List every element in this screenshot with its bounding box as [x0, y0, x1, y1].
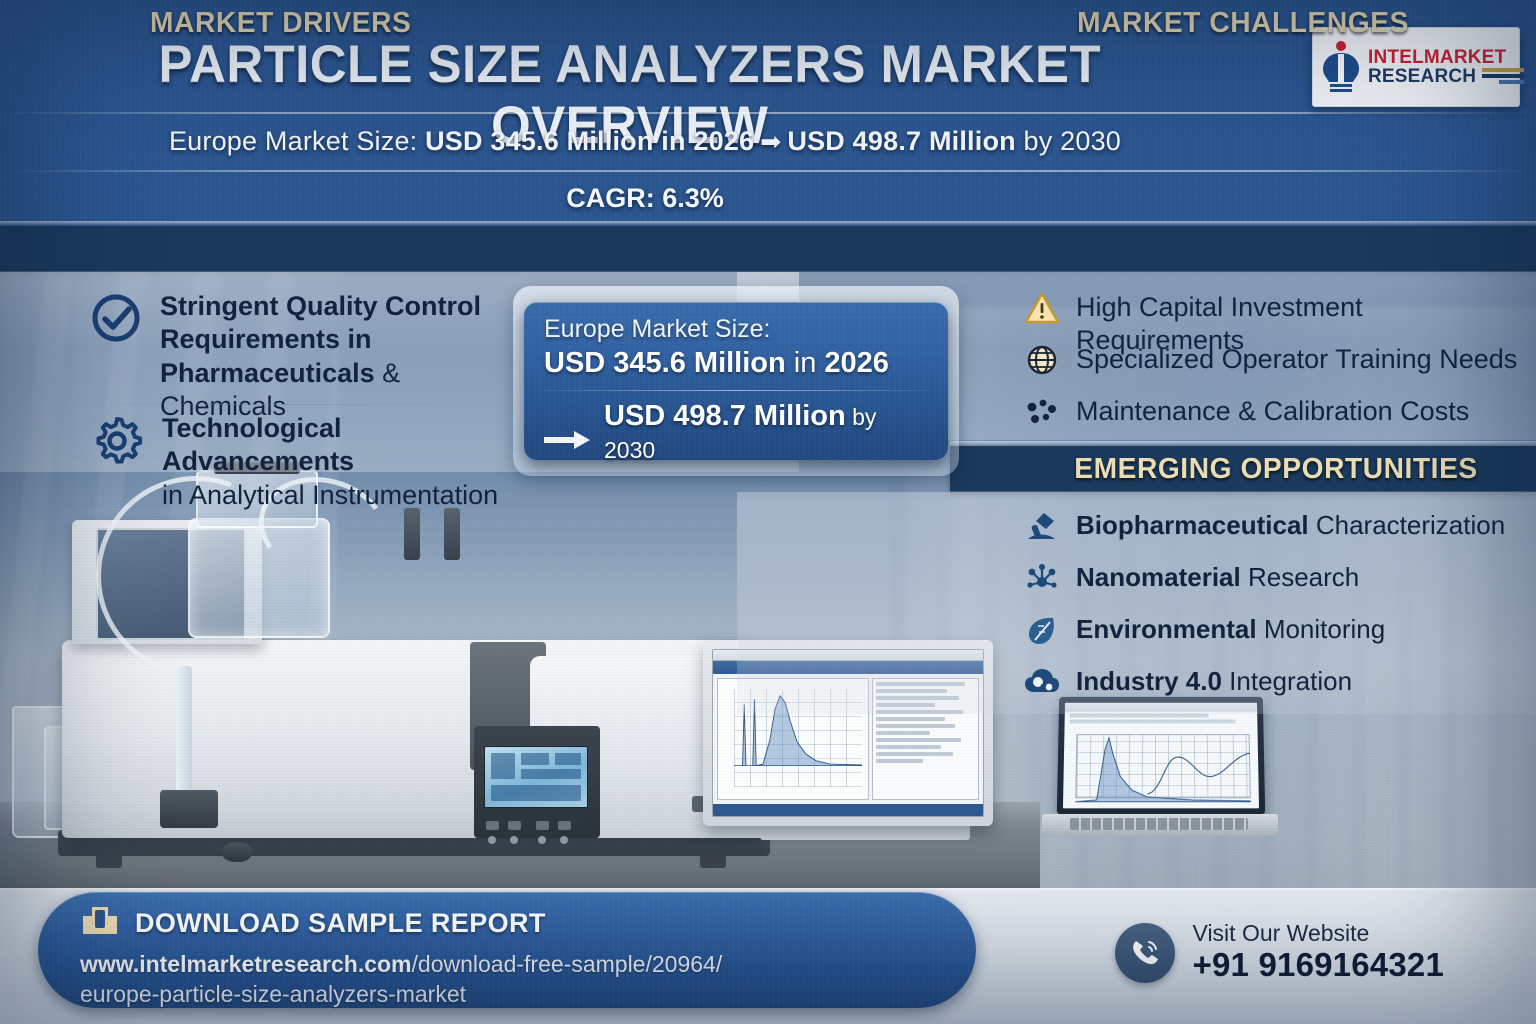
control-led-4	[560, 836, 568, 844]
opportunity-4-rest: Integration	[1222, 666, 1352, 696]
driver-1-line-1: Stringent Quality Control	[160, 291, 481, 321]
driver-2-line-1: Technological Advancements	[162, 413, 354, 476]
phone-ring-icon	[1115, 923, 1175, 983]
challenges-heading: MARKET CHALLENGES	[1077, 0, 1409, 46]
opportunity-item-3-text: Environmental Monitoring	[1076, 613, 1385, 645]
drivers-divider	[60, 404, 510, 405]
challenge-item-2: Specialized Operator Training Needs	[1024, 343, 1517, 377]
cagr-value: CAGR: 6.3%	[0, 183, 1290, 214]
visit-website-label: Visit Our Website	[1193, 921, 1444, 947]
computer-mouse[interactable]	[222, 842, 252, 862]
opportunity-item-2: Nanomaterial Research	[1024, 561, 1359, 595]
logo-line-1: INTELMARKET	[1368, 48, 1524, 67]
opportunity-1-rest: Characterization	[1309, 510, 1506, 540]
opportunity-3-rest: Monitoring	[1257, 614, 1386, 644]
subline-suffix: by 2030	[1016, 126, 1121, 156]
control-led-1	[488, 836, 496, 844]
header-rule-top	[0, 112, 1536, 114]
control-led-2	[510, 836, 518, 844]
logo-wordmark: INTELMARKET RESEARCH	[1368, 48, 1524, 86]
logo-line-2: RESEARCH	[1368, 67, 1524, 86]
subline-prefix: Europe Market Size:	[169, 126, 425, 156]
callout-value-2026-in: in	[786, 347, 825, 379]
control-button-3[interactable]	[536, 821, 549, 830]
challenge-item-2-text: Specialized Operator Training Needs	[1076, 343, 1517, 376]
laptop	[1042, 696, 1278, 846]
driver-1-line-3-bold: Pharmaceuticals	[160, 358, 375, 388]
instrument-port-2	[444, 508, 460, 560]
header-subline: Europe Market Size: USD 345.6 Million in…	[0, 126, 1290, 157]
opportunities-heading: EMERGING OPPORTUNITIES	[1074, 446, 1478, 492]
download-url-domain: www.intelmarketresearch.com	[80, 951, 412, 977]
instrument-foot-right	[700, 854, 726, 868]
callout-value-2026-amount: USD 345.6 Million	[544, 347, 786, 379]
opportunity-item-1-text: Biopharmaceutical Characterization	[1076, 509, 1505, 541]
particles-icon	[1024, 395, 1060, 429]
opportunity-item-3: Environmental Monitoring	[1024, 613, 1385, 647]
callout-value-2030-amount: USD 498.7 Million	[604, 400, 846, 432]
logo-line-2-text: RESEARCH	[1368, 67, 1476, 86]
laptop-plot-curve	[1075, 734, 1251, 802]
laptop-screen	[1063, 703, 1259, 809]
instrument-foot-left	[96, 854, 122, 868]
opportunity-3-bold: Environmental	[1076, 614, 1257, 644]
market-size-callout: Europe Market Size: USD 345.6 Million in…	[524, 302, 948, 460]
laptop-lid	[1057, 697, 1265, 815]
gear-icon	[88, 412, 146, 470]
download-box-icon	[80, 904, 120, 943]
arrow-right-icon: ➡	[754, 127, 787, 157]
footer-bar: DOWNLOAD SAMPLE REPORT www.intelmarketre…	[0, 888, 1536, 1024]
laptop-keyboard[interactable]	[1070, 818, 1248, 830]
control-button-4[interactable]	[558, 821, 571, 830]
driver-item-2: Technological Advancements in Analytical…	[88, 412, 518, 512]
arrow-right-icon	[544, 424, 590, 442]
subline-value-2026: USD 345.6 Million in 2026	[425, 126, 754, 156]
driver-2-line-2: in Analytical Instrumentation	[162, 480, 498, 510]
microscope-icon	[1024, 509, 1060, 543]
callout-value-2030: USD 498.7 Million by 2030	[544, 400, 928, 466]
callout-value-2030-group: USD 498.7 Million by 2030	[604, 400, 928, 466]
challenge-item-3-text: Maintenance & Calibration Costs	[1076, 395, 1469, 428]
contact-block[interactable]: Visit Our Website +91 9169164321	[1115, 921, 1444, 984]
molecule-icon	[1024, 561, 1060, 595]
infographic-poster: PARTICLE SIZE ANALYZERS MARKET OVERVIEW …	[0, 0, 1536, 1024]
software-statusbar	[713, 804, 983, 816]
opportunity-item-2-text: Nanomaterial Research	[1076, 561, 1359, 593]
download-url-path: /download-free-sample/20964/	[412, 951, 723, 977]
download-heading-row: DOWNLOAD SAMPLE REPORT	[80, 904, 976, 943]
opportunity-2-rest: Research	[1241, 562, 1360, 592]
opportunity-item-1: Biopharmaceutical Characterization	[1024, 509, 1505, 543]
phone-number: +91 9169164321	[1193, 947, 1444, 984]
download-url[interactable]: www.intelmarketresearch.com/download-fre…	[80, 949, 976, 1010]
download-sample-report-button[interactable]: DOWNLOAD SAMPLE REPORT www.intelmarketre…	[38, 892, 976, 1008]
callout-separator	[544, 390, 928, 391]
tube-riser	[176, 666, 192, 794]
callout-value-2026: USD 345.6 Million in 2026	[544, 347, 928, 380]
header-rule-bottom	[0, 170, 1536, 172]
section-band-row-1	[0, 226, 1536, 272]
leaf-icon	[1024, 613, 1060, 647]
callout-label: Europe Market Size:	[544, 315, 928, 344]
callout-value-2026-year: 2026	[824, 347, 889, 379]
driver-item-2-text: Technological Advancements in Analytical…	[162, 412, 518, 512]
subline-value-2030: USD 498.7 Million	[787, 126, 1015, 156]
monitor-stand	[760, 824, 970, 840]
logo-flag-bars	[1482, 68, 1524, 86]
contact-text: Visit Our Website +91 9169164321	[1193, 921, 1444, 984]
download-title: DOWNLOAD SAMPLE REPORT	[135, 908, 546, 939]
control-button-2[interactable]	[508, 821, 521, 830]
lightbulb-icon	[1321, 40, 1361, 94]
opportunity-item-4-text: Industry 4.0 Integration	[1076, 665, 1352, 697]
challenge-item-3: Maintenance & Calibration Costs	[1024, 395, 1469, 429]
drivers-heading: MARKET DRIVERS	[150, 0, 411, 46]
opportunity-4-bold: Industry 4.0	[1076, 666, 1222, 696]
opportunity-2-bold: Nanomaterial	[1076, 562, 1241, 592]
driver-1-line-2: Requirements in	[160, 324, 372, 354]
opportunity-item-4: Industry 4.0 Integration	[1024, 665, 1352, 699]
drain-valve	[160, 790, 218, 828]
instrument-touchscreen	[484, 746, 588, 808]
globe-icon	[1024, 343, 1060, 377]
download-url-line-2: europe-particle-size-analyzers-market	[80, 981, 466, 1007]
instrument-port-1	[404, 508, 420, 560]
check-circle-icon	[88, 290, 144, 346]
opportunity-1-bold: Biopharmaceutical	[1076, 510, 1309, 540]
control-button-1[interactable]	[486, 821, 499, 830]
warning-triangle-icon	[1024, 291, 1060, 325]
cloud-icon	[1024, 665, 1060, 699]
control-led-3	[538, 836, 546, 844]
